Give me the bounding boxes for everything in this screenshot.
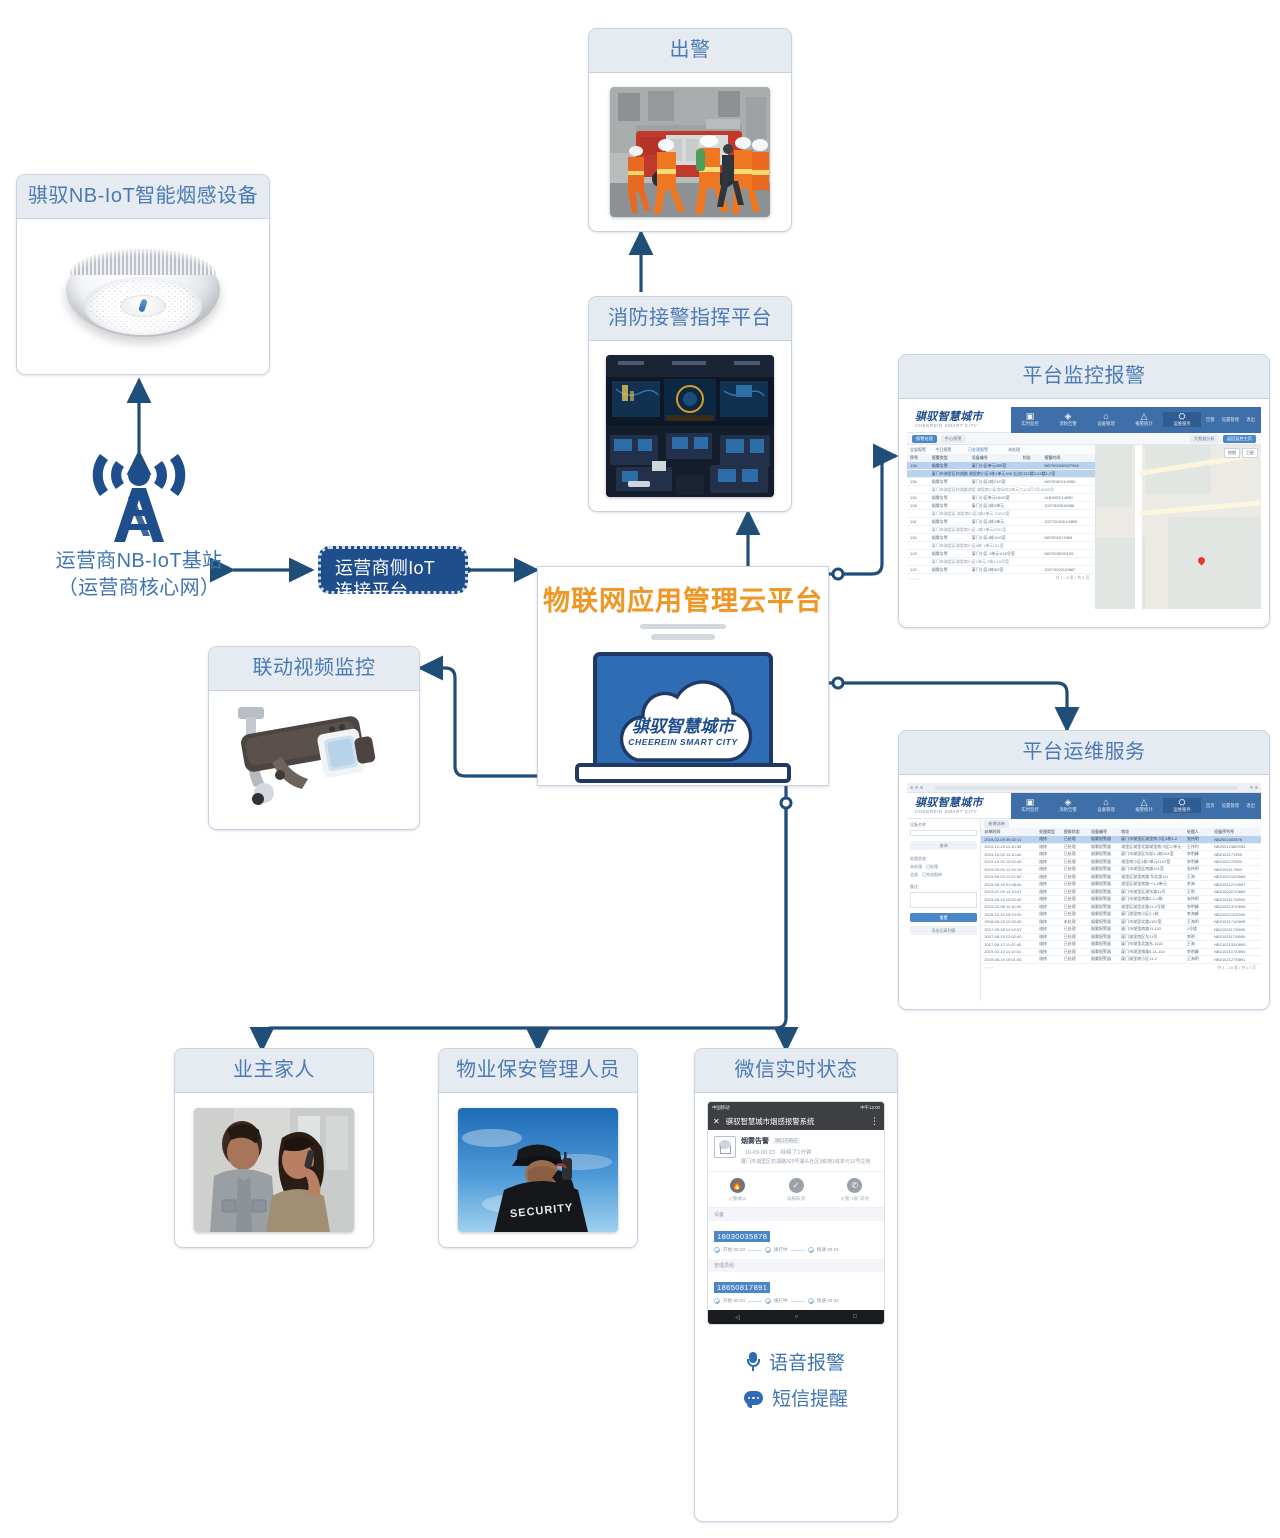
table-cell: 王伟利 [1187,844,1214,850]
node-wechat-status-title: 微信实时状态 [695,1049,897,1093]
node-dispatch-title: 出警 [589,29,791,73]
node-dispatch-body [589,73,791,231]
cloud-logo-en: CHEEREIN SMART CITY [607,738,759,747]
table-row[interactable]: 2017-08-19 22:02:40维修已处理烟雾报警器厦门湖里南区东11号李… [981,934,1261,942]
diagram-canvas: 骐驭NB-IoT智能烟感设备 [0,0,1280,1538]
ops-app-body: 设备名称 查询 处理状态 未处理 已处理 全部 已完成报修 备注 [907,819,1261,1001]
check-circle-icon [808,1247,814,1253]
table-cell: 湖里南小区3栋2单元1102室 [1121,859,1187,865]
home-icon[interactable]: ○ [795,1314,799,1320]
table-cell: 烟雾告警 [932,463,972,469]
table-cell: 维修 [1039,926,1064,932]
ops-row-container: 2019-02-09 09:32:11维修已处理烟雾报警器厦门市湖里区湖里南小区… [981,836,1261,964]
table-row[interactable]: 2017-08-12 11:02:40维修已处理烟雾报警器厦门市湖里北路东-11… [981,941,1261,949]
ops-col-4: 地址 [1121,829,1187,835]
wire-dot-cloud-bottom [781,798,791,808]
node-iot-cloud-platform[interactable]: 物联网应用管理云平台 骐驭智慧城市 CHEEREIN SMART CITY [537,566,829,786]
node-ops-service[interactable]: 平台运维服务 骐驭智慧城市 CHEEREIN SMART CITY ▣实时监控 … [898,730,1270,1010]
table-row[interactable]: 2019-08-19 10:01:00维修已处理烟雾报警器厦门湖里南小区11-2… [981,956,1261,964]
ops-nav-item-2[interactable]: ⌂设备管理 [1087,798,1125,813]
ops-nav-right-1[interactable]: 设置管理 [1222,803,1240,809]
node-ops-service-body: 骐驭智慧城市 CHEEREIN SMART CITY ▣实时监控 ◈消防告警 ⌂… [899,775,1269,1009]
table-cell: 2017-08-19 22:02:40 [984,934,1039,939]
table-cell: 维修 [1039,949,1064,955]
footer-sms-remind[interactable]: 短信提醒 [744,1384,848,1411]
table-row[interactable]: 125烟雾告警厦门小区 1单元1/15号室NB7993578/109 [907,550,1095,558]
table-cell: 厦门湖里南小区2-1栋 [1121,911,1187,917]
ops-logo-cn: 骐驭智慧城市 [915,798,1011,809]
app-header: 骐驭智慧城市 CHEEREIN SMART CITY ▣实时监控 ◈消防告警 ⌂… [907,407,1261,433]
table-row[interactable]: 138烟雾告警厦门小区单元305室NB7992340927949 [907,462,1095,470]
device-icon: ⌂ [1087,412,1125,421]
ops-table-header: 派单时间 处理类型 报修状态 设备编号 地址 处理人 设备序列号 [981,828,1261,836]
toolbar-btn-1[interactable]: 中心报警 [941,435,966,443]
map-btn-normal[interactable]: 地图 [1224,448,1240,458]
table-row[interactable]: 2018-12-12 15:10:00维修已处理烟雾报警器厦门湖里南小区2-1栋… [981,911,1261,919]
col-2: 设备编号 [972,455,1023,461]
table-cell: 烟雾告警 [932,567,972,573]
action-fire-confirm[interactable]: 🔥 火警确认 [708,1178,767,1202]
table-row[interactable]: 136烟雾告警厦门小区2栋21/0室NB7908741/0950 [907,478,1095,486]
nav-item-1[interactable]: ◈消防告警 [1049,412,1087,427]
app-logo: 骐驭智慧城市 CHEEREIN SMART CITY [907,412,1011,428]
alert-icon: ◈ [1049,412,1087,421]
table-cell: NB2002303576 [1214,837,1258,842]
table-cell: 2019-02-09 09:32:11 [984,837,1039,842]
alert-icon: ◈ [1049,798,1087,807]
monitor-alarm-screenshot[interactable]: 骐驭智慧城市 CHEEREIN SMART CITY ▣实时监控 ◈消防告警 ⌂… [907,407,1261,619]
nav-item-3[interactable]: △报警统计 [1125,412,1163,427]
table-cell: 烟雾报警器 [1091,956,1121,962]
table-cell: 已处理 [1064,934,1091,940]
table-cell: 烟雾告警 [932,535,972,541]
table-cell: 张伟明 [1187,836,1214,842]
table-row[interactable]: 2019-09-03 11:02:52维修已处理烟雾报警器湖里区湖里南路 东北部… [981,874,1261,882]
action-label-2: 火警·1报·双语 [840,1196,869,1201]
table-cell: 烟雾报警器 [1091,836,1121,842]
ops-radio-processed[interactable]: 已处理 [926,864,938,870]
android-nav-bar[interactable]: ◁ ○ □ [708,1310,884,1324]
table-row[interactable]: 2019-09-02 12:10:19维修已处理烟雾报警器厦门市湖里区南路101… [981,866,1261,874]
table-cell: 维修 [1039,881,1064,887]
nav-label-2: 设备管理 [1097,421,1115,426]
wire-ops-bus [786,1010,1067,1018]
call-steps: 开始 00:23拨打中接通 00:24 [708,1247,884,1259]
ops-nav-item-4[interactable]: ⛭运维服务 [1163,798,1201,813]
node-wechat-status-body: 中国移动 中午12:00 ✕ 骐驭智慧城市烟感报警系统 ⋮ 烟雾告警 湖口已响应 [695,1093,897,1521]
ops-reset-button[interactable]: 重置 [910,913,977,922]
ops-nav-right[interactable]: 首页 设置管理 退出 [1206,803,1261,809]
table-cell: 王海明 [1187,956,1214,962]
table-cell: 2017-09-18 12:10:07 [984,927,1039,932]
footer-sms-label: 短信提醒 [772,1384,848,1411]
toolbar-btn-0[interactable]: 报警处理 [912,435,937,443]
table-cell: NB2102127/0897 [1214,882,1258,887]
ops-search-button[interactable]: 查询 [910,841,977,850]
wechat-app-bar[interactable]: ✕ 骐驭智慧城市烟感报警系统 ⋮ [708,1113,884,1130]
table-row[interactable]: 118烟雾告警厦门小区2栋1单元JCE7002/4/1/0895 [907,518,1095,526]
node-video-monitor[interactable]: 联动视频监控 [208,646,420,830]
alert-title-row: 烟雾告警 湖口已响应 [741,1136,878,1146]
app-nav[interactable]: ▣实时监控 ◈消防告警 ⌂设备管理 △报警统计 ⛭运维服务 告警 设置管理 退出 [1011,407,1261,433]
ops-col-1: 处理类型 [1039,829,1064,835]
node-owner-family-body [175,1093,373,1247]
alarm-table[interactable]: 全部报警 今日报警 已处理报警 未处理 序号 报警类型 设备编号 状态 报警时间 [907,445,1095,609]
call-step-label: 拨打中 [774,1247,788,1253]
table-cell: 厦门市湖里北路1102室 [1121,919,1187,925]
call-step-connector [748,1301,762,1302]
app-toolbar[interactable]: 报警处理 中心报警 大数据分析 返回监控主页 [907,433,1261,445]
col-1: 报警类型 [932,455,972,461]
ops-select-device[interactable] [910,830,977,836]
table-cell: 王海明 [1187,919,1214,925]
table-cell: 厦门湖里南小区11-2 [1121,956,1187,962]
table-cell: 烟雾报警器 [1091,874,1121,880]
table-cell: 李明 [1187,934,1214,940]
node-command-center[interactable]: 消防接警指挥平台 [588,296,792,512]
table-row[interactable]: 130烟雾告警厦门小区单元15/20室0LB9002/14950 [907,494,1095,502]
node-wechat-status[interactable]: 微信实时状态 中国移动 中午12:00 ✕ 骐驭智慧城市烟感报警系统 ⋮ 烟雾告… [694,1048,898,1522]
nav-item-0[interactable]: ▣实时监控 [1011,412,1049,427]
table-row[interactable]: 2018-09-19 12:02:40维修未处理烟雾报警器厦门市湖里北路1102… [981,919,1261,927]
table-cell: 张伟明 [1187,866,1214,872]
close-icon[interactable]: ✕ [713,1117,720,1126]
nav-label-0: 实时监控 [1021,421,1039,426]
iot-platform-line2: 连接平台 [335,580,455,603]
cctv-camera-photo [224,701,404,821]
node-command-center-title: 消防接警指挥平台 [589,297,791,341]
table-cell: 维修 [1039,844,1064,850]
ops-nav-label-2: 设备管理 [1097,807,1115,812]
ops-label-name: 设备名称 [910,822,977,828]
ops-nav-item-1[interactable]: ◈消防告警 [1049,798,1087,813]
table-cell: NB2102171395 [1214,852,1258,857]
alert-actions[interactable]: 🔥 火警确认 ✓ 误报取消 ✆ 火警·1报·双语 [708,1172,884,1208]
node-smoke-device-title: 骐驭NB-IoT智能烟感设备 [17,175,269,219]
table-cell: 130 [910,535,932,540]
table-row[interactable]: 120烟雾告警厦门小区2栋5/0室JCE79022/10887 [907,566,1095,574]
table-cell: NB2102117/0899 [1214,927,1258,932]
table-row-detail: 厦门市湖里区湖里南小区1单元 3栋1/15号室 [907,558,1095,566]
node-security-staff-title: 物业保安管理人员 [439,1049,637,1093]
table-cell: NB7992340927949 [1044,463,1091,468]
table-cell: 厦门市湖里区南路101室 [1121,866,1187,872]
tools-icon: ⛭ [1163,412,1201,421]
table-header: 序号 报警类型 设备编号 状态 报警时间 [907,454,1095,462]
node-owner-family-title: 业主家人 [175,1049,373,1093]
table-cell: 128 [910,503,932,508]
bell-icon: △ [1125,412,1163,421]
nav-right[interactable]: 告警 设置管理 退出 [1206,417,1261,423]
table-cell: 湖里区湖里南路 东北部111 [1121,874,1187,880]
more-dots-icon[interactable]: ⋮ [870,1116,879,1127]
node-smoke-device-body [17,219,269,375]
wire-cloud-ops [829,683,1067,730]
table-cell-detail: 厦门市湖里区湖里南小区4栋 1单元011室 [910,543,1092,549]
call-group-number[interactable]: 18030035878 [714,1226,878,1244]
alert-address: 厦门市湖里区枋湖路325号湖头社区3栋南1栋单元10号左侧 [741,1159,878,1166]
ops-table[interactable]: 新增派单 派单时间 处理类型 报修状态 设备编号 地址 处理人 设备序列号 20… [981,819,1261,1001]
table-cell: 王海 [1187,941,1214,947]
ops-sidebar[interactable]: 设备名称 查询 处理状态 未处理 已处理 全部 已完成报修 备注 [907,819,981,1001]
recents-icon[interactable]: □ [853,1314,857,1320]
footer-voice-alarm[interactable]: 语音报警 [744,1348,848,1375]
table-cell-detail: 厦门市湖里区湖里南小区1单元 3栋1/15号室 [910,559,1092,565]
table-cell: 烟雾告警 [932,503,972,509]
filter-1[interactable]: 今日报警 [935,447,968,453]
map-controls[interactable]: 地图 卫星 [1224,448,1258,458]
wechat-app-title: 骐驭智慧城市烟感报警系统 [726,1116,815,1127]
table-cell: NB2102212/0889 [1214,874,1258,879]
ops-export-button[interactable]: 导出记录列表 [910,926,977,935]
table-cell: 湖里区湖里北路湖里南小区二单元 [1121,844,1187,850]
action-label-1: 误报取消 [787,1196,805,1201]
col-4: 报警时间 [1044,455,1091,461]
table-cell-detail: 厦门市湖里区枋湖路 湖里南小区3栋1单元305 左边口32楼0-03楼1-0室 [910,471,1092,477]
table-cell: 已处理 [1064,889,1091,895]
call-step-connector [791,1301,805,1302]
table-cell: 已处理 [1064,904,1091,910]
table-cell: 厦门小区单元305室 [972,463,1023,469]
node-operator-iot-platform[interactable]: 运营商侧IoT 连接平台 [318,546,468,594]
firefighters-photo [610,87,770,217]
iot-platform-line1: 运营商侧IoT [335,557,455,580]
table-cell: 厦门市湖里北路东-1102 [1121,941,1187,947]
alert-time-row: 10-09 00:23 持续了1分钟 [741,1148,878,1156]
table-row[interactable]: 2017-09-18 12:10:07维修已处理烟雾报警器厦门市湖里南路11-1… [981,926,1261,934]
ops-radio-done[interactable]: 已完成报修 [922,872,942,878]
table-cell: NB2102132/0899 [1214,942,1258,947]
toolbar-right-1[interactable]: 返回监控主页 [1223,435,1256,443]
alert-block: 烟雾告警 湖口已响应 10-09 00:23 持续了1分钟 厦门市湖里区枋湖路3… [708,1130,884,1172]
ops-nav-label-3: 报警统计 [1135,807,1153,812]
tools-icon: ⛭ [1163,798,1201,807]
fire-icon: 🔥 [730,1178,745,1193]
ops-col-5: 处理人 [1187,829,1214,835]
table-cell: 已处理 [1064,844,1091,850]
table-cell: 厦门市湖里南路11-102 [1121,926,1187,932]
table-cell: 已处理 [1064,881,1091,887]
filter-0[interactable]: 全部报警 [910,447,935,453]
table-row[interactable]: 2019-02-10 11:10:01维修已处理烟雾报警器厦门市湖里南路5-11… [981,949,1261,957]
table-cell: 烟雾告警 [932,479,972,485]
call-step-label: 拨打中 [774,1298,788,1304]
table-row-detail: 厦门市湖里区枋湖路 湖里南小区3栋1单元305 左边口32楼0-03楼1-0室 [907,470,1095,478]
table-cell: 烟雾报警器 [1091,866,1121,872]
table-cell: 已处理 [1064,911,1091,917]
ops-nav-label-0: 实时监控 [1021,807,1039,812]
table-cell: 2019-02-10 11:10:01 [984,949,1039,954]
table-row-detail: 厦门市湖里区湖里南小区4栋 1单元011室 [907,542,1095,550]
nav-item-4[interactable]: ⛭运维服务 [1163,412,1201,427]
call-step-connector [791,1250,805,1251]
table-cell: NB2102117/0893 [1214,897,1258,902]
nav-item-2[interactable]: ⌂设备管理 [1087,412,1125,427]
table-cell: 维修 [1039,889,1064,895]
ops-col-0: 派单时间 [984,829,1039,835]
table-cell: 李明峰 [1187,859,1214,865]
table-cell-detail: 厦门市湖里区 湖里南小区3栋2单元 10203室 [910,511,1092,517]
table-row[interactable]: 2019-02-08 11:10:00维修已处理烟雾报警器湖里区湖里北路11-2… [981,904,1261,912]
ops-nav-item-0[interactable]: ▣实时监控 [1011,798,1049,813]
nav-label-4: 运维服务 [1173,421,1191,426]
filter-3[interactable]: 未处理 [1008,447,1033,453]
table-cell: 130 [910,495,932,500]
ops-radio-unprocessed[interactable]: 未处理 [910,864,922,870]
table-row[interactable]: 2019-10-02 10:02:40维修已处理烟雾报警器湖里南小区3栋2单元1… [981,859,1261,867]
table-cell: 138 [910,463,932,468]
table-cell: 烟雾报警器 [1091,904,1121,910]
ops-toolbar[interactable]: 新增派单 [981,819,1261,828]
table-row[interactable]: 2019-12-19 11:10:36维修已处理烟雾报警器湖里区湖里北路湖里南小… [981,844,1261,852]
nav-right-0[interactable]: 告警 [1206,417,1215,423]
ops-pagination[interactable]: ‹ ‹ › › 共 1 - 18 条 / 共 17 页 [981,964,1261,972]
message-bubble-icon [744,1391,763,1405]
table-cell: 已处理 [1064,851,1091,857]
table-cell: 烟雾报警器 [1091,881,1121,887]
table-row-detail: 厦门市湖里区枋湖路湖里 湖里南小区房间东2单元二103厅0号 8003号 [907,486,1095,494]
nav-right-2[interactable]: 退出 [1246,417,1255,423]
table-cell: 已处理 [1064,866,1091,872]
ops-label-remark: 备注 [910,884,977,890]
center-platform-title: 物联网应用管理云平台 [543,579,823,618]
col-3: 状态 [1023,455,1045,461]
check-circle-icon [765,1298,771,1304]
wire-dot-cloud-right-bottom [833,678,843,688]
table-cell: NB7892017889 [1044,535,1091,540]
table-cell: NB7993578/109 [1044,551,1091,556]
center-divider-1 [640,624,726,629]
table-cell: 维修 [1039,896,1064,902]
table-cell: 2019-07-09 12:10:07 [984,889,1039,894]
call-step-label: 接通 00:24 [817,1247,839,1253]
node-security-staff-body: SECURITY [439,1093,637,1247]
table-cell: 2019-05-15 10:02:40 [984,897,1039,902]
phone-mockup[interactable]: 中国移动 中午12:00 ✕ 骐驭智慧城市烟感报警系统 ⋮ 烟雾告警 湖口已响应 [707,1101,885,1325]
ops-col-3: 设备编号 [1091,829,1121,835]
alarm-map[interactable]: 地图 卫星 [1095,445,1261,609]
table-cell: 已处理 [1064,874,1091,880]
node-owner-family[interactable]: 业主家人 [174,1048,374,1248]
ops-nav-item-3[interactable]: △报警统计 [1125,798,1163,813]
ops-app-nav[interactable]: ▣实时监控 ◈消防告警 ⌂设备管理 △报警统计 ⛭运维服务 首页 设置管理 退出 [1011,793,1261,819]
table-row[interactable]: 2019-02-09 09:32:11维修已处理烟雾报警器厦门市湖里区湖里南小区… [981,836,1261,844]
table-cell: 烟雾报警器 [1091,859,1121,865]
action-false-alarm[interactable]: ✓ 误报取消 [767,1178,826,1202]
ops-nav-label-1: 消防告警 [1059,807,1077,812]
table-cell: 厦门市湖里区湖里南小区3栋1-2 [1121,836,1187,842]
table-cell: 2019-09-03 11:02:52 [984,874,1039,879]
table-cell: NB2102137/0899 [1214,904,1258,909]
table-cell: 厦门市湖里南路5-11-102 [1121,949,1187,955]
nav-label-1: 消防告警 [1059,421,1077,426]
table-row[interactable]: 2019-08-19 01:08:40维修已处理烟雾报警器湖里区湖里南路一1-2… [981,881,1261,889]
status-carrier: 中国移动 [712,1105,730,1111]
node-monitor-alarm[interactable]: 平台监控报警 骐驭智慧城市 CHEEREIN SMART CITY ▣实时监控 … [898,354,1270,628]
filter-2[interactable]: 已处理报警 [968,447,1008,453]
alert-time: 10-09 00:23 [745,1150,775,1156]
table-cell: NB2102127/0891 [1214,957,1258,962]
node-dispatch[interactable]: 出警 [588,28,792,232]
node-security-staff[interactable]: 物业保安管理人员 [438,1048,638,1248]
back-icon[interactable]: ◁ [735,1314,740,1321]
table-cell: 已处理 [1064,926,1091,932]
table-cell: 王海 [1187,874,1214,880]
table-cell: 烟雾报警器 [1091,851,1121,857]
table-cell: 已处理 [1064,836,1091,842]
node-monitor-alarm-body: 骐驭智慧城市 CHEEREIN SMART CITY ▣实时监控 ◈消防告警 ⌂… [899,399,1269,627]
table-cell: 维修 [1039,851,1064,857]
table-cell: 2019-12-19 11:10:36 [984,844,1039,849]
bell-icon: △ [1125,798,1163,807]
table-cell: 已处理 [1064,956,1091,962]
call-group-number[interactable]: 18650817891 [714,1277,878,1295]
node-smoke-device[interactable]: 骐驭NB-IoT智能烟感设备 [16,174,270,375]
base-station-label: 运营商NB-IoT基站 （运营商核心网） [28,548,250,602]
table-cell: 厦门市湖里区湖东路11号 [1121,889,1187,895]
nav-right-1[interactable]: 设置管理 [1222,417,1240,423]
status-time: 中午12:00 [860,1105,880,1111]
table-cell: 2018-09-19 12:02:40 [984,919,1039,924]
table-row[interactable]: 2019-07-09 12:10:07维修已处理烟雾报警器厦门市湖里区湖东路11… [981,889,1261,897]
ops-radio-all[interactable]: 全部 [910,872,918,878]
base-station-label-line1: 运营商NB-IoT基站 [28,548,250,575]
table-cell: 烟雾报警器 [1091,949,1121,955]
smoke-alert-icon [714,1136,736,1158]
check-circle-icon [765,1247,771,1253]
filter-row[interactable]: 全部报警 今日报警 已处理报警 未处理 [907,445,1095,454]
node-ops-service-title: 平台运维服务 [899,731,1269,775]
table-row[interactable]: 2019-10-02 11:10:40维修已处理烟雾报警器厦门市湖里区东部1-2… [981,851,1261,859]
table-cell: 烟雾告警 [932,551,972,557]
ops-remark-input[interactable] [910,892,977,908]
table-row[interactable]: 2019-05-15 10:02:40维修已处理烟雾报警器厦门市湖里南路3-1-… [981,896,1261,904]
call-step-label: 接通 00:34 [817,1298,839,1304]
table-cell: 李明峰 [1187,949,1214,955]
table-cell: 2019-08-19 10:01:00 [984,957,1039,962]
ops-col-2: 报修状态 [1064,829,1091,835]
ops-app-header: 骐驭智慧城市 CHEEREIN SMART CITY ▣实时监控 ◈消防告警 ⌂… [907,793,1261,819]
ops-service-screenshot[interactable]: 骐驭智慧城市 CHEEREIN SMART CITY ▣实时监控 ◈消防告警 ⌂… [907,783,1261,1001]
check-icon: ✓ [789,1178,804,1193]
table-cell: 维修 [1039,911,1064,917]
ops-nav-right-0[interactable]: 首页 [1206,803,1215,809]
ops-new-order-button[interactable]: 新增派单 [984,820,1009,828]
pagination[interactable]: ‹ ‹ › › 共 1 - 8 条 / 共 8 页 [907,574,1095,582]
table-cell: 烟雾报警器 [1091,941,1121,947]
map-btn-satellite[interactable]: 卫星 [1242,448,1258,458]
ops-nav-label-4: 运维服务 [1173,807,1191,812]
table-row[interactable]: 130烟雾告警厦门小区4栋11/0室NB7892017889 [907,534,1095,542]
toolbar-right-0[interactable]: 大数据分析 [1190,435,1219,443]
security-guard-photo: SECURITY [458,1108,618,1232]
table-cell: 2019-10-02 11:10:40 [984,852,1039,857]
table-cell: 已处理 [1064,941,1091,947]
ops-pagination-label: 共 1 - 18 条 / 共 17 页 [1094,965,1258,971]
table-cell: 维修 [1039,919,1064,925]
browser-url-bar[interactable] [907,783,1261,793]
table-cell: 厦门小区2栋21/0室 [972,479,1023,485]
wire-cloud-video [420,668,537,776]
ops-nav-right-2[interactable]: 退出 [1246,803,1255,809]
monitor-icon: ▣ [1011,798,1049,807]
table-row-detail: 厦门市湖里区湖里南小区 2栋1单元0201室 [907,526,1095,534]
table-cell: 厦门市湖里区东部1-2栋101室 [1121,851,1187,857]
action-call[interactable]: ✆ 火警·1报·双语 [825,1178,884,1202]
table-cell: NB2102117089 [1214,867,1258,872]
node-monitor-alarm-title: 平台监控报警 [899,355,1269,399]
table-row[interactable]: 128烟雾告警厦门小区3栋2单元JCE7893010988 [907,502,1095,510]
